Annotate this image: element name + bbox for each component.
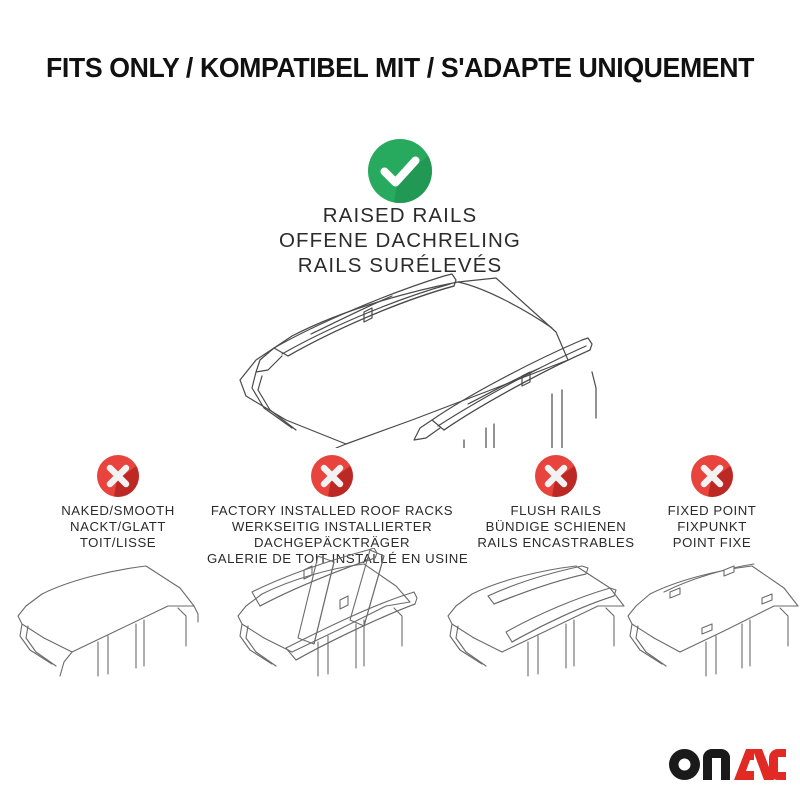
flush-rails-label-fr: RAILS ENCASTRABLES bbox=[461, 535, 651, 551]
raised-rails-labels: RAISED RAILS OFFENE DACHRELING RAILS SUR… bbox=[0, 203, 800, 278]
fixed-point-labels: FIXED POINT FIXPUNKT POINT FIXE bbox=[637, 503, 787, 551]
naked-label-de: NACKT/GLATT bbox=[18, 519, 218, 535]
raised-rails-label-de: OFFENE DACHRELING bbox=[0, 228, 800, 253]
naked-label-fr: TOIT/LISSE bbox=[18, 535, 218, 551]
factory-racks-label-en: FACTORY INSTALLED ROOF RACKS bbox=[207, 503, 457, 519]
x-circle-icon bbox=[535, 455, 577, 497]
page-title: FITS ONLY / KOMPATIBEL MIT / S'ADAPTE UN… bbox=[12, 52, 788, 84]
x-circle-icon bbox=[691, 455, 733, 497]
factory-racks-label-de-1: WERKSEITIG INSTALLIERTER bbox=[207, 519, 457, 535]
check-circle-icon bbox=[368, 139, 432, 203]
omac-wordmark bbox=[668, 748, 786, 784]
fixed-point-label-fr: POINT FIXE bbox=[637, 535, 787, 551]
naked-labels: NAKED/SMOOTH NACKT/GLATT TOIT/LISSE bbox=[18, 503, 218, 551]
compatibility-infographic: FITS ONLY / KOMPATIBEL MIT / S'ADAPTE UN… bbox=[0, 0, 800, 800]
fixed-point-label-de: FIXPUNKT bbox=[637, 519, 787, 535]
x-circle-icon bbox=[97, 455, 139, 497]
fixed-point-label-en: FIXED POINT bbox=[637, 503, 787, 519]
omac-logo bbox=[668, 748, 786, 784]
flush-rails-labels: FLUSH RAILS BÜNDIGE SCHIENEN RAILS ENCAS… bbox=[461, 503, 651, 551]
flush-rails-label-de: BÜNDIGE SCHIENEN bbox=[461, 519, 651, 535]
naked-label-en: NAKED/SMOOTH bbox=[18, 503, 218, 519]
car-roof-raised-rails-illustration bbox=[196, 268, 606, 448]
x-circle-icon bbox=[311, 455, 353, 497]
raised-rails-label-en: RAISED RAILS bbox=[0, 203, 800, 228]
car-roof-factory-racks-illustration bbox=[218, 548, 438, 693]
car-roof-fixed-point-illustration bbox=[620, 556, 800, 688]
car-roof-flush-rails-illustration bbox=[438, 556, 638, 688]
car-roof-naked-illustration bbox=[8, 558, 208, 688]
flush-rails-label-en: FLUSH RAILS bbox=[461, 503, 651, 519]
